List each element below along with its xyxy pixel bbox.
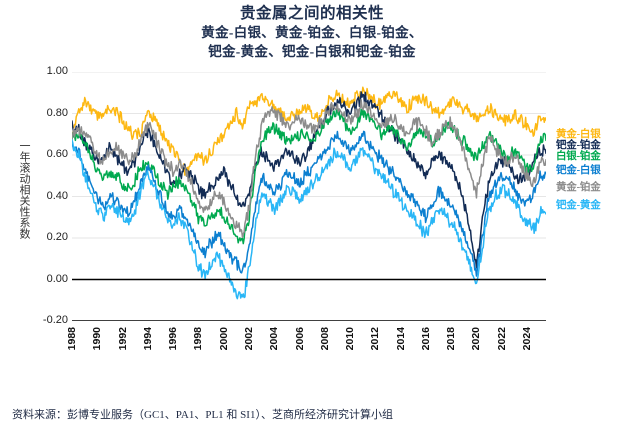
x-tick-label: 2008 bbox=[319, 327, 331, 350]
legend-item-钯金-铂金[interactable]: 钯金-铂金 bbox=[556, 140, 601, 151]
x-tick-label: 2022 bbox=[496, 327, 508, 350]
plot-area bbox=[72, 72, 546, 321]
x-tick-label: 2002 bbox=[243, 327, 255, 350]
x-tick-label: 1998 bbox=[192, 327, 204, 350]
x-tick-label: 2010 bbox=[344, 327, 356, 350]
x-tick-label: 2016 bbox=[420, 327, 432, 350]
legend-item-白银-铂金[interactable]: 白银-铂金 bbox=[556, 151, 601, 162]
x-tick-label: 2006 bbox=[294, 327, 306, 350]
chart-figure: 贵金属之间的相关性 黄金-白银、黄金-铂金、白银-铂金、 钯金-黄金、钯金-白银… bbox=[0, 0, 624, 432]
x-tick-label: 2000 bbox=[218, 327, 230, 350]
legend-item-钯金-黄金[interactable]: 钯金-黄金 bbox=[556, 200, 601, 211]
x-tick-label: 2024 bbox=[521, 327, 533, 350]
legend-item-黄金-白银[interactable]: 黄金-白银 bbox=[556, 129, 601, 140]
x-tick-label: 1990 bbox=[91, 327, 103, 350]
x-tick-label: 2014 bbox=[395, 327, 407, 350]
legend-item-钯金-白银[interactable]: 钯金-白银 bbox=[556, 165, 601, 176]
x-tick-label: 1994 bbox=[142, 327, 154, 350]
x-tick-label: 1988 bbox=[66, 327, 78, 350]
x-tick-label: 2012 bbox=[369, 327, 381, 350]
x-tick-label: 2004 bbox=[268, 327, 280, 350]
x-tick-label: 2020 bbox=[470, 327, 482, 350]
x-tick-label: 1992 bbox=[117, 327, 129, 350]
legend-item-黄金-铂金[interactable]: 黄金-铂金 bbox=[556, 182, 601, 193]
x-tick-label: 2018 bbox=[445, 327, 457, 350]
series-canvas bbox=[72, 72, 546, 321]
x-tick-label: 1996 bbox=[167, 327, 179, 350]
source-note: 资料来源：彭博专业服务（GC1、PA1、PL1 和 SI1）、芝商所经济研究计算… bbox=[12, 406, 612, 422]
